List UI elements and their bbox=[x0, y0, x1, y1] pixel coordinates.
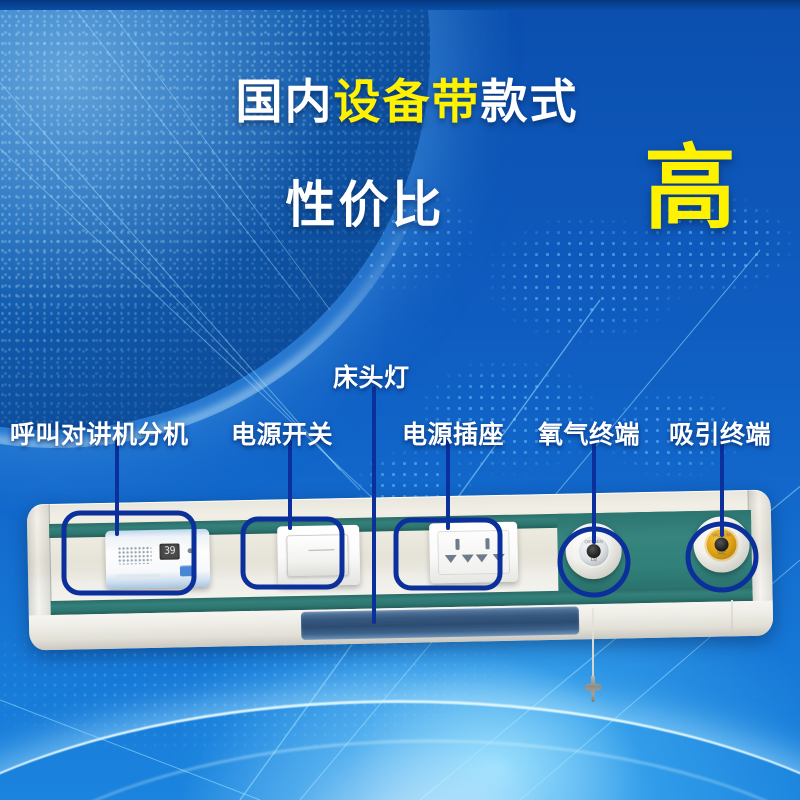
callout-label-layer: 呼叫对讲机分机 电源开关 床头灯 电源插座 氧气终端 吸引终端 bbox=[0, 0, 800, 800]
callout-label-bed-reading-lamp: 床头灯 bbox=[333, 358, 410, 394]
callout-label-nurse-call-intercom: 呼叫对讲机分机 bbox=[10, 415, 189, 451]
callout-label-power-switch: 电源开关 bbox=[231, 415, 333, 451]
callout-label-oxygen-terminal: 氧气终端 bbox=[538, 415, 640, 451]
banner-canvas: 国内设备带款式 性价比 高 39 bbox=[0, 0, 800, 800]
callout-label-suction-terminal: 吸引终端 bbox=[669, 415, 771, 451]
callout-label-power-socket: 电源插座 bbox=[402, 415, 504, 451]
